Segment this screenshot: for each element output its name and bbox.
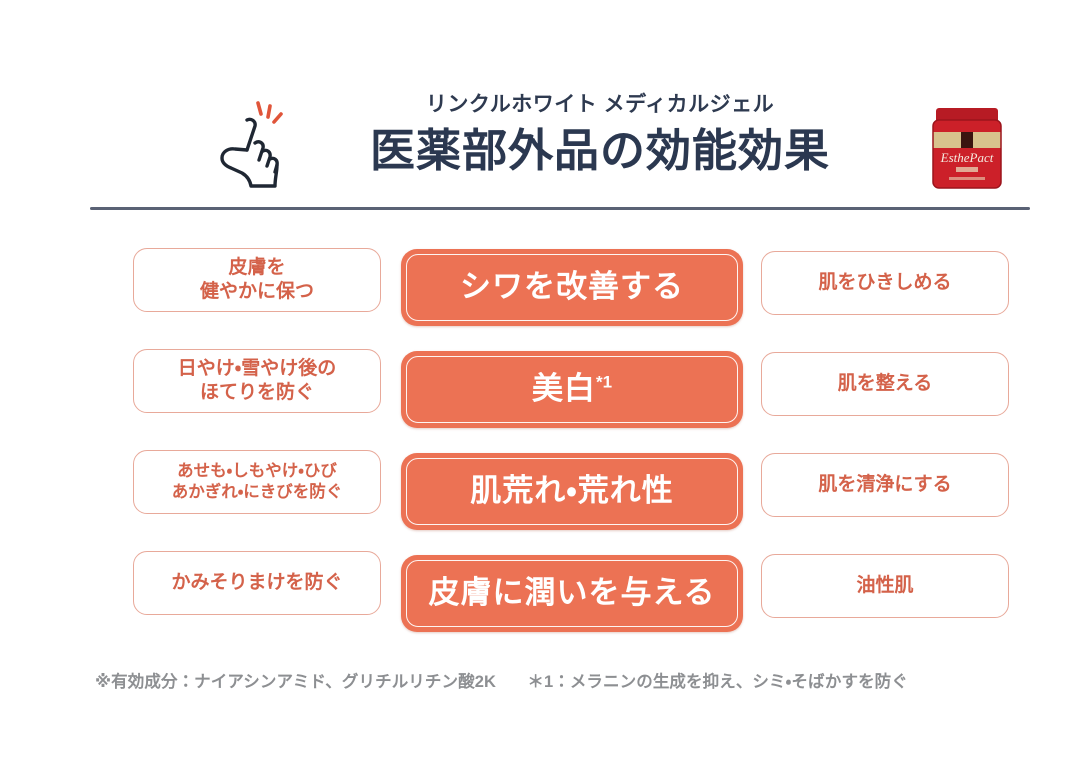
primary-benefit-label: 肌荒れ・荒れ性 (470, 474, 674, 508)
benefit-box-left-3[interactable]: あせも・しもやけ・ひび あかぎれ・にきびを防ぐ (133, 450, 381, 514)
center-column: シワを改善する 美白*1 肌荒れ・荒れ性 皮膚に潤いを与える (401, 249, 743, 632)
benefit-grid: 皮膚を 健やかに保つ 日やけ・雪やけ後の ほてりを防ぐ あせも・しもやけ・ひび … (0, 0, 1080, 771)
primary-benefit-label: シワを改善する (460, 270, 684, 304)
right-column: 肌をひきしめる 肌を整える 肌を清浄にする 油性肌 (761, 251, 1009, 618)
benefit-label: 肌をひきしめる (818, 271, 951, 295)
primary-benefit-box-1[interactable]: シワを改善する (401, 249, 743, 326)
benefit-label: あせも・しもやけ・ひび あかぎれ・にきびを防ぐ (172, 461, 343, 503)
primary-benefit-box-2[interactable]: 美白*1 (401, 351, 743, 428)
benefit-box-right-1[interactable]: 肌をひきしめる (761, 251, 1009, 315)
footnote-marker: *1 (596, 373, 612, 392)
benefit-box-left-1[interactable]: 皮膚を 健やかに保つ (133, 248, 381, 312)
infographic-page: リンクルホワイト メディカルジェル 医薬部外品の効能効果 EsthePact 皮… (0, 0, 1080, 771)
benefit-label: 肌を清浄にする (818, 473, 951, 497)
primary-benefit-label: 美白*1 (532, 372, 612, 406)
benefit-label: 肌を整える (838, 372, 932, 396)
benefit-label: 油性肌 (856, 574, 913, 598)
benefit-label: 皮膚を 健やかに保つ (200, 256, 314, 305)
primary-benefit-box-3[interactable]: 肌荒れ・荒れ性 (401, 453, 743, 530)
benefit-label: 日やけ・雪やけ後の ほてりを防ぐ (178, 357, 336, 406)
benefit-box-left-2[interactable]: 日やけ・雪やけ後の ほてりを防ぐ (133, 349, 381, 413)
benefit-label: かみそりまけを防ぐ (171, 571, 342, 595)
footnote: ※有効成分：ナイアシンアミド、グリチルリチン酸2K ＊1：メラニンの生成を抑え、… (95, 668, 908, 692)
left-column: 皮膚を 健やかに保つ 日やけ・雪やけ後の ほてりを防ぐ あせも・しもやけ・ひび … (133, 248, 381, 615)
benefit-box-right-4[interactable]: 油性肌 (761, 554, 1009, 618)
primary-benefit-label: 皮膚に潤いを与える (428, 576, 715, 610)
benefit-box-right-2[interactable]: 肌を整える (761, 352, 1009, 416)
benefit-box-left-4[interactable]: かみそりまけを防ぐ (133, 551, 381, 615)
benefit-box-right-3[interactable]: 肌を清浄にする (761, 453, 1009, 517)
primary-benefit-box-4[interactable]: 皮膚に潤いを与える (401, 555, 743, 632)
footnote-note1: ＊1：メラニンの生成を抑え、シミ・そばかすを防ぐ (527, 673, 908, 691)
footnote-ingredients: ※有効成分：ナイアシンアミド、グリチルリチン酸2K (95, 673, 496, 691)
